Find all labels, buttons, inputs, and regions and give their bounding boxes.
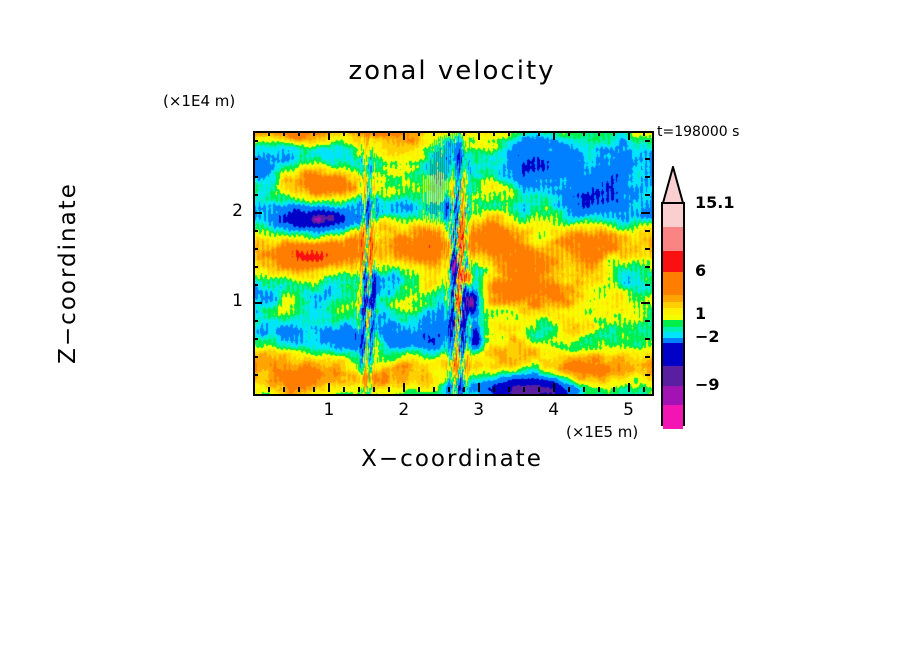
x-tick-2.8: [463, 387, 465, 392]
y-tick-right-0.8: [645, 320, 650, 322]
x-tick-1.4: [358, 387, 360, 392]
x-tick-label-3: 3: [464, 400, 494, 420]
y-tick-0.2: [253, 374, 258, 376]
x-tick-4.8: [613, 387, 615, 392]
y-tick-right-2.4: [645, 176, 650, 178]
y-tick-2.2: [253, 194, 258, 196]
colorbar-band-14: [663, 386, 683, 406]
x-tick-label-4: 4: [539, 400, 569, 420]
x-tick-top-5.2: [643, 131, 645, 136]
timestamp-annotation: t=198000 s: [657, 124, 739, 140]
x-tick-2.2: [418, 387, 420, 392]
x-tick-top-1.4: [358, 131, 360, 136]
y-tick-2.6: [253, 158, 258, 160]
x-axis-title: X−coordinate: [0, 446, 904, 472]
y-tick-1.6: [253, 248, 258, 250]
x-tick-2.4: [433, 387, 435, 392]
x-tick-top-0.6: [298, 131, 300, 136]
x-tick-top-0.2: [268, 131, 270, 136]
contour-field: [255, 133, 652, 394]
y-tick-right-1.4: [645, 266, 650, 268]
x-tick-top-2.2: [418, 131, 420, 136]
colorbar-band-0: [663, 204, 683, 228]
page-title: zonal velocity: [0, 56, 904, 86]
x-tick-top-3.8: [538, 131, 540, 136]
y-tick-2.8: [253, 140, 258, 142]
x-tick-top-4.8: [613, 131, 615, 136]
x-tick-top-4.4: [583, 131, 585, 136]
figure-canvas: zonal velocity (×1E4 m) t=198000 s 12345…: [0, 0, 904, 654]
y-tick-1: [253, 302, 262, 304]
x-tick-top-4.2: [568, 131, 570, 136]
y-tick-1.2: [253, 284, 258, 286]
x-tick-4.2: [568, 387, 570, 392]
y-tick-right-1.6: [645, 248, 650, 250]
colorbar-band-2: [663, 251, 683, 272]
colorbar-label-1: 1: [695, 304, 706, 323]
colorbar-band-15: [663, 405, 683, 428]
x-tick-2.6: [448, 387, 450, 392]
x-tick-top-2: [403, 131, 405, 140]
x-tick-top-1.6: [373, 131, 375, 136]
colorbar-band-1: [663, 227, 683, 251]
y-tick-right-1.8: [645, 230, 650, 232]
x-tick-top-0.8: [313, 131, 315, 136]
y-tick-0.4: [253, 356, 258, 358]
y-tick-right-0.4: [645, 356, 650, 358]
x-tick-0.8: [313, 387, 315, 392]
x-tick-top-2.4: [433, 131, 435, 136]
y-tick-right-2.2: [645, 194, 650, 196]
x-tick-3.4: [508, 387, 510, 392]
x-tick-3.8: [538, 387, 540, 392]
colorbar-label-15.1: 15.1: [695, 193, 734, 212]
x-tick-2: [403, 383, 405, 392]
x-tick-top-4: [553, 131, 555, 140]
x-tick-label-5: 5: [614, 400, 644, 420]
x-tick-label-1: 1: [314, 400, 344, 420]
x-tick-1: [328, 383, 330, 392]
y-tick-2.4: [253, 176, 258, 178]
x-tick-top-4.6: [598, 131, 600, 136]
x-tick-top-3.4: [508, 131, 510, 136]
x-tick-top-2.6: [448, 131, 450, 136]
x-tick-top-5: [628, 131, 630, 140]
x-tick-1.2: [343, 387, 345, 392]
x-tick-top-3.2: [493, 131, 495, 136]
y-tick-2: [253, 212, 262, 214]
x-tick-top-0.4: [283, 131, 285, 136]
y-tick-0.8: [253, 320, 258, 322]
x-tick-top-3: [478, 131, 480, 140]
plot-area: [253, 131, 654, 396]
y-tick-right-0.6: [645, 338, 650, 340]
y-tick-0.6: [253, 338, 258, 340]
colorbar-band-12: [663, 343, 683, 366]
x-tick-3.6: [523, 387, 525, 392]
x-tick-1.6: [373, 387, 375, 392]
colorbar-band-13: [663, 366, 683, 386]
y-tick-right-2.6: [645, 158, 650, 160]
x-tick-top-3.6: [523, 131, 525, 136]
x-tick-0.4: [283, 387, 285, 392]
x-axis-units-label: (×1E5 m): [566, 423, 638, 441]
y-axis-title: Z−coordinate: [55, 143, 81, 403]
y-tick-right-1.2: [645, 284, 650, 286]
x-tick-4.6: [598, 387, 600, 392]
x-tick-5.2: [643, 387, 645, 392]
colorbar-cap-icon: [661, 166, 685, 204]
x-tick-1.8: [388, 387, 390, 392]
colorbar-label-6: 6: [695, 261, 706, 280]
x-tick-3: [478, 383, 480, 392]
x-tick-4: [553, 383, 555, 392]
x-tick-0.6: [298, 387, 300, 392]
x-tick-top-1.2: [343, 131, 345, 136]
colorbar-label-m9: −9: [695, 375, 720, 394]
y-tick-right-0.2: [645, 374, 650, 376]
colorbar-bands: [661, 202, 685, 426]
y-tick-1.4: [253, 266, 258, 268]
colorbar-band-3: [663, 272, 683, 296]
x-tick-top-1.8: [388, 131, 390, 136]
colorbar-label-m2: −2: [695, 327, 720, 346]
y-axis-units-label: (×1E4 m): [163, 92, 235, 110]
x-tick-5: [628, 383, 630, 392]
y-tick-1.8: [253, 230, 258, 232]
x-tick-0.2: [268, 387, 270, 392]
y-tick-right-1: [641, 302, 650, 304]
x-tick-3.2: [493, 387, 495, 392]
x-tick-top-2.8: [463, 131, 465, 136]
x-tick-4.4: [583, 387, 585, 392]
x-tick-top-1: [328, 131, 330, 140]
y-tick-right-2: [641, 212, 650, 214]
x-tick-label-2: 2: [389, 400, 419, 420]
y-tick-label-2: 2: [221, 201, 243, 221]
y-tick-label-1: 1: [221, 291, 243, 311]
y-tick-right-2.8: [645, 140, 650, 142]
